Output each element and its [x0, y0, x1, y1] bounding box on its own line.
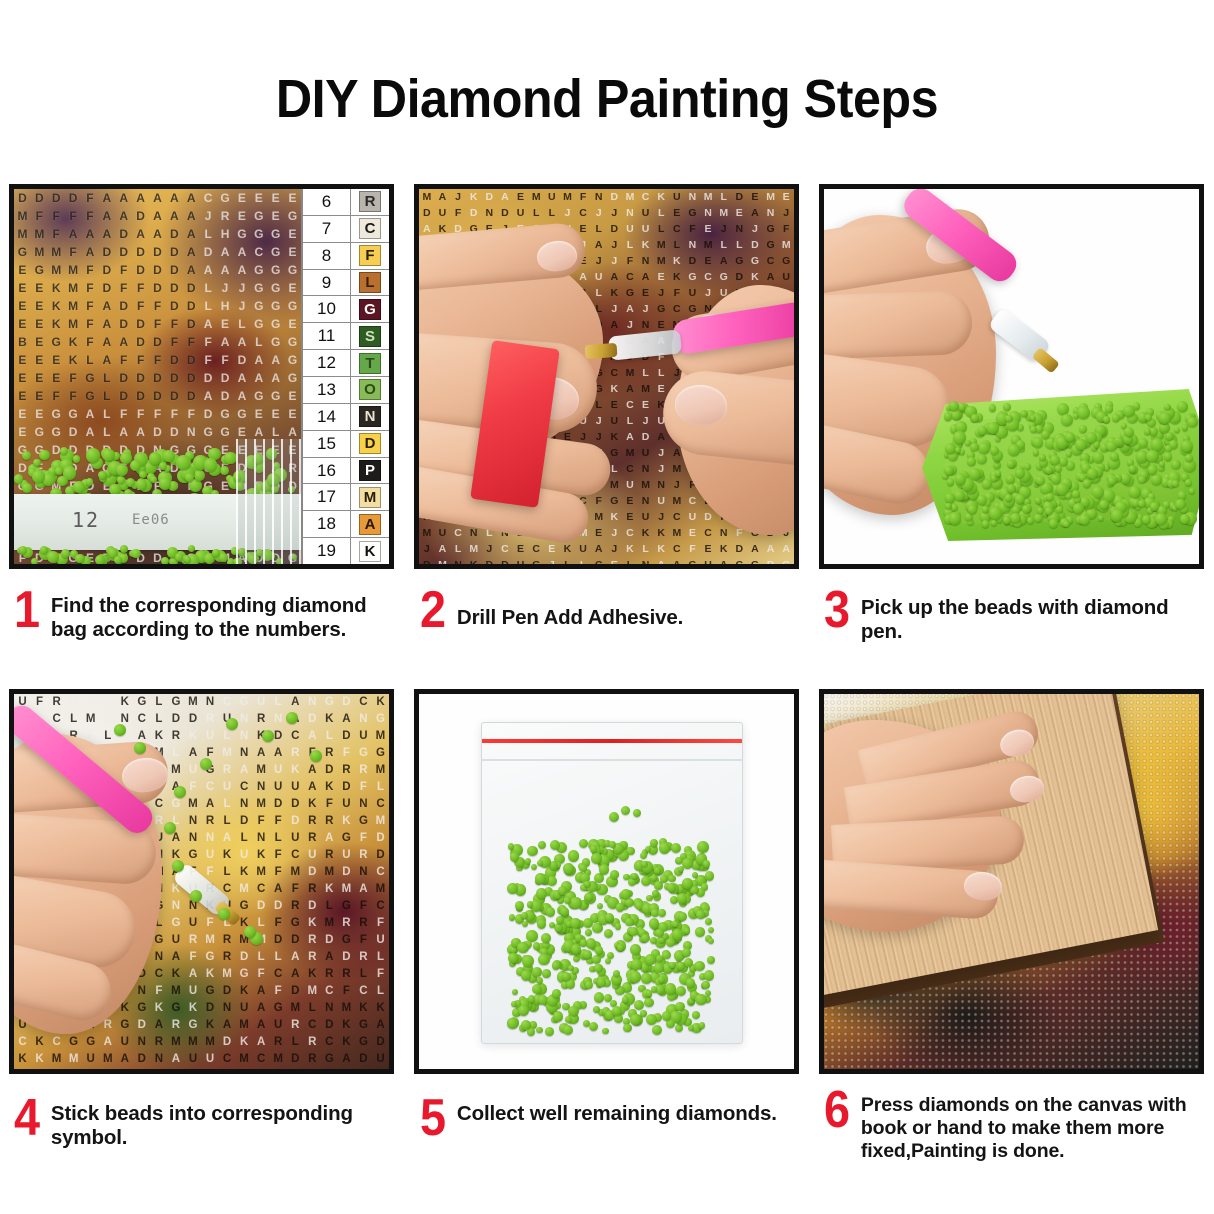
canvas-symbol-cell: L	[653, 205, 669, 221]
diamond-bead	[508, 843, 515, 850]
canvas-symbol-cell: M	[48, 243, 65, 261]
diamond-bead	[697, 841, 709, 853]
canvas-symbol-cell: E	[513, 541, 529, 557]
canvas-symbol-cell: M	[31, 243, 48, 261]
diamond-bead	[579, 839, 588, 848]
diamond-bead	[161, 557, 169, 564]
canvas-symbol-cell: F	[65, 243, 82, 261]
diamond-bead	[528, 995, 536, 1003]
legend-row-number: 8	[303, 243, 351, 269]
canvas-symbol-cell: U	[622, 477, 638, 493]
canvas-symbol-cell: G	[763, 237, 779, 253]
diamond-bead	[1159, 461, 1165, 467]
canvas-symbol-cell: A	[607, 317, 623, 333]
diamond-bead	[527, 901, 534, 908]
canvas-symbol-cell: F	[115, 405, 132, 423]
diamond-bead	[666, 938, 675, 947]
canvas-symbol-cell: K	[607, 509, 623, 525]
canvas-symbol-cell: E	[284, 243, 301, 261]
canvas-symbol-cell: E	[284, 387, 301, 405]
canvas-symbol-cell: K	[669, 253, 685, 269]
canvas-symbol-cell: R	[217, 207, 234, 225]
canvas-symbol-cell: G	[653, 301, 669, 317]
canvas-symbol-cell: G	[284, 261, 301, 279]
canvas-symbol-cell: L	[450, 541, 466, 557]
canvas-symbol-cell: L	[638, 541, 654, 557]
canvas-symbol-cell: D	[183, 297, 200, 315]
canvas-symbol-cell: L	[716, 189, 732, 205]
canvas-symbol-cell: E	[267, 189, 284, 207]
diamond-bead	[518, 1005, 529, 1016]
diamond-bead	[1138, 500, 1145, 507]
legend-row: 15D	[303, 431, 389, 458]
canvas-symbol-cell: D	[166, 351, 183, 369]
canvas-symbol-cell: E	[48, 351, 65, 369]
canvas-symbol-cell: D	[132, 333, 149, 351]
canvas-symbol-cell: D	[98, 243, 115, 261]
diamond-bead	[184, 556, 191, 563]
canvas-symbol-cell: D	[149, 333, 166, 351]
diamond-bead	[580, 939, 587, 946]
diamond-bead	[32, 470, 45, 483]
canvas-symbol-cell: F	[48, 225, 65, 243]
diamond-bead	[1111, 509, 1124, 522]
canvas-symbol-cell: L	[82, 351, 99, 369]
step-3-number: 3	[824, 588, 850, 634]
canvas-symbol-cell: G	[82, 369, 99, 387]
diamond-bead	[609, 841, 616, 848]
diamond-bead	[677, 893, 688, 904]
legend-row-number: 7	[303, 216, 351, 242]
diamond-bead	[95, 555, 106, 564]
diamond-bead	[668, 875, 676, 883]
canvas-symbol-cell: E	[669, 205, 685, 221]
canvas-symbol-cell: A	[267, 369, 284, 387]
canvas-symbol-cell: D	[115, 225, 132, 243]
diamond-bead	[1182, 424, 1188, 430]
legend-color-chip: K	[359, 541, 381, 562]
diamond-bead	[571, 944, 581, 954]
diamond-bead	[616, 903, 625, 912]
canvas-symbol-cell: D	[183, 387, 200, 405]
step-5-image	[414, 689, 799, 1074]
diamond-bead	[989, 404, 997, 412]
canvas-symbol-cell: L	[669, 237, 685, 253]
canvas-symbol-cell: F	[132, 297, 149, 315]
diamond-bead	[621, 889, 631, 899]
canvas-symbol-cell: A	[233, 387, 250, 405]
canvas-symbol-cell: G	[622, 285, 638, 301]
canvas-symbol-cell: N	[638, 317, 654, 333]
diamond-bead	[623, 1024, 632, 1033]
step-1-number: 1	[14, 588, 40, 634]
legend-color-chip: A	[359, 514, 381, 535]
canvas-symbol-cell: G	[778, 253, 794, 269]
canvas-symbol-cell: A	[669, 557, 685, 564]
step-1-caption: 1 Find the corresponding diamond bag acc…	[14, 592, 404, 642]
diamond-bead	[522, 955, 534, 967]
canvas-symbol-cell: L	[200, 279, 217, 297]
canvas-symbol-cell: D	[149, 261, 166, 279]
diamond-bead	[610, 870, 619, 879]
canvas-symbol-cell: M	[14, 207, 31, 225]
canvas-symbol-cell: J	[607, 253, 623, 269]
diamond-bead	[583, 950, 592, 959]
canvas-symbol-cell: M	[435, 557, 451, 564]
canvas-symbol-cell: D	[132, 387, 149, 405]
canvas-symbol-cell: J	[419, 541, 435, 557]
diamond-bead	[573, 955, 580, 962]
diamond-bead	[538, 841, 546, 849]
canvas-symbol-cell: D	[482, 189, 498, 205]
step-3-caption: 3 Pick up the beads with diamond pen.	[824, 592, 1212, 644]
canvas-symbol-cell: G	[200, 423, 217, 441]
canvas-symbol-cell: U	[700, 557, 716, 564]
canvas-symbol-cell: E	[544, 541, 560, 557]
canvas-symbol-cell: M	[607, 477, 623, 493]
diamond-bead	[660, 875, 668, 883]
diamond-bead	[1129, 465, 1136, 472]
diamond-bead	[116, 464, 128, 476]
diamond-bead	[699, 1022, 706, 1029]
step-4-number: 4	[14, 1096, 40, 1142]
diamond-bead	[1079, 514, 1090, 525]
diamond-bead	[629, 927, 638, 936]
diamond-bead	[597, 978, 606, 987]
diamond-bead	[692, 1011, 700, 1019]
canvas-symbol-cell: D	[183, 351, 200, 369]
diamond-bead	[605, 958, 611, 964]
canvas-symbol-cell: A	[183, 225, 200, 243]
canvas-symbol-cell: D	[149, 387, 166, 405]
canvas-symbol-cell: E	[48, 369, 65, 387]
canvas-symbol-cell: D	[166, 243, 183, 261]
canvas-symbol-cell: A	[115, 207, 132, 225]
canvas-symbol-cell: J	[544, 557, 560, 564]
canvas-symbol-cell: F	[82, 315, 99, 333]
canvas-symbol-cell: M	[419, 189, 435, 205]
step-2-text: Drill Pen Add Adhesive.	[457, 592, 683, 630]
canvas-symbol-cell: M	[419, 525, 435, 541]
diamond-bead	[991, 520, 997, 526]
diamond-bead	[646, 990, 653, 997]
diamond-bead	[944, 412, 953, 421]
beads-in-tray	[942, 401, 1198, 529]
diamond-bead	[696, 910, 705, 919]
canvas-symbol-cell: G	[778, 557, 794, 564]
canvas-symbol-cell: G	[250, 261, 267, 279]
canvas-symbol-cell: F	[82, 189, 99, 207]
diamond-bead	[1039, 454, 1046, 461]
canvas-symbol-cell: A	[217, 333, 234, 351]
diamond-bead	[684, 928, 690, 934]
diamond-bead	[1033, 437, 1044, 448]
diamond-bead	[602, 1028, 609, 1035]
diamond-bead	[22, 451, 32, 461]
canvas-symbol-cell: D	[183, 279, 200, 297]
canvas-symbol-cell: A	[98, 207, 115, 225]
diamond-bead	[568, 1006, 578, 1016]
legend-row: 17M	[303, 484, 389, 511]
diamond-bead	[1003, 403, 1011, 411]
page-title: DIY Diamond Painting Steps	[42, 68, 1171, 130]
diamond-bead	[1187, 417, 1197, 427]
bag-seal-strip	[482, 739, 742, 743]
diamond-bead	[704, 970, 715, 981]
canvas-symbol-cell: D	[419, 205, 435, 221]
diamond-bead	[1172, 480, 1179, 487]
diamond-bead	[159, 462, 167, 470]
canvas-symbol-cell: A	[149, 189, 166, 207]
step-4-caption: 4 Stick beads into corresponding symbol.	[14, 1100, 404, 1150]
canvas-symbol-cell: G	[284, 351, 301, 369]
legend-color-chip: D	[359, 433, 381, 454]
canvas-symbol-cell: G	[65, 405, 82, 423]
diamond-bead	[1073, 503, 1084, 514]
legend-color-chip: M	[359, 487, 381, 508]
canvas-symbol-cell: E	[31, 333, 48, 351]
canvas-symbol-cell: U	[669, 189, 685, 205]
legend-row-symbol-cell: G	[351, 299, 389, 320]
legend-row: 8F	[303, 243, 389, 270]
diamond-bead	[684, 958, 693, 967]
diamond-bead	[594, 992, 604, 1002]
diy-steps-infographic: DIY Diamond Painting Steps DDDDFAAAAAACG…	[0, 0, 1214, 1214]
canvas-symbol-cell: A	[622, 381, 638, 397]
legend-row-symbol-cell: P	[351, 460, 389, 481]
placed-bead	[218, 908, 230, 920]
canvas-symbol-cell: E	[700, 541, 716, 557]
canvas-symbol-cell: K	[669, 269, 685, 285]
canvas-symbol-cell: F	[82, 279, 99, 297]
canvas-symbol-cell: A	[166, 207, 183, 225]
diamond-bead	[645, 954, 656, 965]
diamond-bead	[1059, 457, 1068, 466]
diamond-bead	[640, 1010, 646, 1016]
diamond-bead	[1072, 490, 1080, 498]
diamond-bead	[589, 1022, 598, 1031]
canvas-symbol-cell: M	[14, 225, 31, 243]
canvas-symbol-cell: A	[250, 351, 267, 369]
canvas-symbol-cell: N	[685, 237, 701, 253]
canvas-symbol-cell: D	[200, 369, 217, 387]
canvas-symbol-cell: D	[497, 205, 513, 221]
canvas-symbol-cell: L	[591, 221, 607, 237]
legend-row-number: 9	[303, 270, 351, 296]
canvas-symbol-cell: E	[267, 405, 284, 423]
canvas-symbol-cell: G	[528, 557, 544, 564]
diamond-bead	[1159, 412, 1171, 424]
canvas-symbol-cell: K	[607, 429, 623, 445]
diamond-bead	[535, 873, 546, 884]
stray-bead-1	[609, 812, 619, 822]
canvas-symbol-cell: G	[250, 315, 267, 333]
canvas-symbol-cell: F	[622, 253, 638, 269]
canvas-symbol-cell: L	[591, 285, 607, 301]
canvas-symbol-cell: F	[115, 351, 132, 369]
canvas-symbol-cell: D	[217, 369, 234, 387]
canvas-symbol-cell: F	[65, 207, 82, 225]
canvas-symbol-cell: A	[183, 261, 200, 279]
canvas-symbol-cell: U	[435, 525, 451, 541]
canvas-symbol-cell: J	[653, 461, 669, 477]
canvas-symbol-cell: G	[82, 387, 99, 405]
diamond-bead	[692, 872, 698, 878]
drill-pen-tip	[585, 343, 618, 359]
diamond-bead	[73, 455, 81, 463]
canvas-symbol-cell: C	[669, 509, 685, 525]
canvas-symbol-cell: M	[716, 205, 732, 221]
canvas-symbol-cell: F	[166, 405, 183, 423]
canvas-symbol-cell: A	[217, 243, 234, 261]
canvas-symbol-cell: A	[82, 225, 99, 243]
canvas-symbol-cell: D	[183, 315, 200, 333]
diamond-bead	[585, 981, 593, 989]
diamond-bead	[521, 970, 531, 980]
canvas-symbol-cell: C	[763, 253, 779, 269]
diamond-bead	[1063, 521, 1069, 527]
legend-color-chip: O	[359, 379, 381, 400]
diamond-bead	[150, 476, 157, 483]
canvas-symbol-cell: A	[98, 297, 115, 315]
legend-row-symbol-cell: A	[351, 514, 389, 535]
canvas-symbol-cell: F	[115, 261, 132, 279]
canvas-symbol-cell: G	[685, 557, 701, 564]
diamond-bead	[550, 840, 560, 850]
canvas-symbol-cell: D	[685, 253, 701, 269]
diamond-bead	[114, 556, 122, 564]
canvas-symbol-cell: A	[132, 189, 149, 207]
diamond-bead	[14, 474, 23, 483]
step-1-text: Find the corresponding diamond bag accor…	[51, 592, 404, 642]
diamond-bead	[595, 946, 603, 954]
canvas-symbol-cell: J	[607, 205, 623, 221]
canvas-symbol-cell: A	[591, 541, 607, 557]
canvas-symbol-cell: A	[622, 301, 638, 317]
canvas-symbol-cell: M	[65, 297, 82, 315]
canvas-symbol-cell: M	[591, 509, 607, 525]
canvas-symbol-cell: A	[115, 333, 132, 351]
canvas-symbol-cell: A	[250, 369, 267, 387]
canvas-symbol-cell: G	[732, 253, 748, 269]
legend-color-chip: R	[359, 191, 381, 212]
diamond-bead	[224, 452, 237, 465]
canvas-symbol-cell: M	[466, 541, 482, 557]
diamond-bead	[615, 923, 621, 929]
diamond-bead	[634, 1000, 644, 1010]
canvas-symbol-cell: F	[669, 285, 685, 301]
diamond-bead	[176, 455, 191, 470]
diamond-bead	[662, 951, 670, 959]
canvas-with-bead-bag-photo: DDDDFAAAAAACGEEEEMFFFFAADAAAJREGEGMMFAAA…	[14, 189, 389, 564]
diamond-bead	[1093, 452, 1104, 463]
diamond-bead	[977, 454, 987, 464]
canvas-symbol-cell: M	[763, 189, 779, 205]
canvas-symbol-cell: E	[284, 279, 301, 297]
canvas-symbol-cell: F	[685, 541, 701, 557]
diamond-bead	[175, 553, 183, 561]
canvas-symbol-cell: A	[497, 189, 513, 205]
canvas-symbol-cell: J	[233, 279, 250, 297]
beads-in-bag	[507, 836, 715, 1036]
diamond-bead	[656, 955, 663, 962]
canvas-symbol-cell: F	[778, 221, 794, 237]
canvas-symbol-cell: N	[763, 205, 779, 221]
diamond-bead	[532, 967, 542, 977]
canvas-symbol-cell: E	[622, 493, 638, 509]
diamond-bead	[102, 449, 115, 462]
canvas-symbol-cell: G	[48, 405, 65, 423]
diamond-bead	[1087, 468, 1098, 479]
diamond-bead	[1144, 428, 1151, 435]
canvas-symbol-cell: C	[622, 525, 638, 541]
canvas-symbol-cell: U	[638, 445, 654, 461]
canvas-symbol-cell: K	[48, 279, 65, 297]
canvas-symbol-cell: M	[65, 315, 82, 333]
canvas-symbol-cell: D	[732, 189, 748, 205]
canvas-symbol-cell: G	[267, 261, 284, 279]
canvas-symbol-cell: E	[513, 189, 529, 205]
canvas-symbol-cell: C	[685, 493, 701, 509]
canvas-symbol-cell: A	[82, 243, 99, 261]
canvas-symbol-cell: E	[14, 369, 31, 387]
placed-bead	[164, 822, 176, 834]
canvas-symbol-cell: K	[653, 525, 669, 541]
diamond-bead	[1124, 427, 1134, 437]
diamond-bead	[525, 858, 531, 864]
canvas-symbol-cell: J	[700, 285, 716, 301]
step-2-caption: 2 Drill Pen Add Adhesive.	[420, 592, 810, 634]
canvas-symbol-cell: U	[622, 221, 638, 237]
canvas-symbol-cell: C	[250, 243, 267, 261]
canvas-symbol-cell: C	[497, 541, 513, 557]
step-6-image	[819, 689, 1204, 1074]
canvas-symbol-cell: A	[98, 351, 115, 369]
canvas-symbol-cell: D	[115, 243, 132, 261]
canvas-symbol-cell: L	[98, 387, 115, 405]
diamond-bead	[604, 929, 613, 938]
canvas-symbol-cell: A	[82, 423, 99, 441]
legend-row: 11S	[303, 323, 389, 350]
step-2-image: MAJKDAEMUMFNDMCKUNMLDEMEDUFDNDULLJCJJNUL…	[414, 184, 799, 569]
diamond-bead	[1145, 414, 1152, 421]
canvas-symbol-cell: A	[98, 189, 115, 207]
canvas-symbol-cell: G	[233, 225, 250, 243]
diamond-bead	[508, 953, 519, 964]
diamond-bead	[968, 505, 977, 514]
legend-row-number: 16	[303, 458, 351, 484]
canvas-symbol-cell: E	[14, 405, 31, 423]
canvas-symbol-cell: D	[14, 189, 31, 207]
canvas-symbol-cell: F	[200, 333, 217, 351]
canvas-symbol-cell: A	[233, 243, 250, 261]
placed-bead	[174, 786, 186, 798]
diamond-bead	[982, 479, 992, 489]
canvas-symbol-cell: E	[284, 189, 301, 207]
canvas-symbol-cell: K	[607, 381, 623, 397]
canvas-symbol-cell: J	[638, 301, 654, 317]
canvas-symbol-cell: D	[48, 189, 65, 207]
canvas-symbol-cell: C	[591, 557, 607, 564]
diamond-bead	[227, 559, 234, 564]
canvas-symbol-cell: C	[200, 189, 217, 207]
canvas-symbol-cell: M	[528, 189, 544, 205]
canvas-symbol-cell: A	[200, 315, 217, 333]
canvas-symbol-cell: J	[716, 221, 732, 237]
diamond-bead	[585, 893, 593, 901]
canvas-symbol-cell: F	[149, 405, 166, 423]
canvas-symbol-cell: E	[31, 387, 48, 405]
